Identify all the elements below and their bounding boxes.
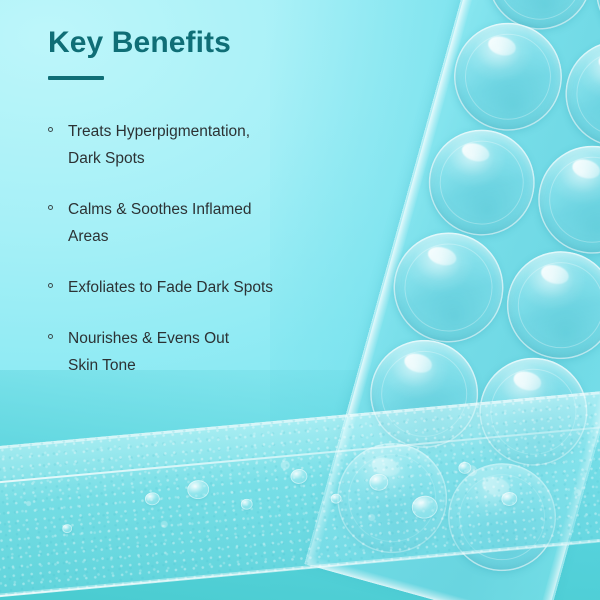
page-title: Key Benefits	[48, 26, 231, 60]
gel-bubble	[417, 117, 547, 247]
bullet-icon	[48, 205, 53, 210]
benefit-text: Nourishes & Evens Out Skin Tone	[68, 330, 229, 374]
title-underline-accent	[48, 76, 104, 80]
bullet-icon	[48, 283, 53, 288]
product-benefits-card: Key Benefits Treats Hyperpigmentation, D…	[0, 0, 600, 600]
list-item: Calms & Soothes Inflamed Areas	[48, 196, 378, 250]
benefit-text: Exfoliates to Fade Dark Spots	[68, 279, 273, 296]
bullet-icon	[48, 127, 53, 132]
gel-bubble	[553, 29, 600, 159]
text-content: Key Benefits Treats Hyperpigmentation, D…	[0, 0, 400, 600]
gel-bubble	[526, 133, 600, 266]
bullet-icon	[48, 334, 53, 339]
gel-bubble	[494, 239, 600, 372]
benefits-list: Treats Hyperpigmentation, Dark Spots Cal…	[48, 118, 378, 403]
list-item: Exfoliates to Fade Dark Spots	[48, 274, 378, 301]
list-item: Treats Hyperpigmentation, Dark Spots	[48, 118, 378, 172]
list-item: Nourishes & Evens Out Skin Tone	[48, 325, 378, 379]
benefit-text: Treats Hyperpigmentation, Dark Spots	[68, 123, 250, 167]
benefit-text: Calms & Soothes Inflamed Areas	[68, 201, 252, 245]
